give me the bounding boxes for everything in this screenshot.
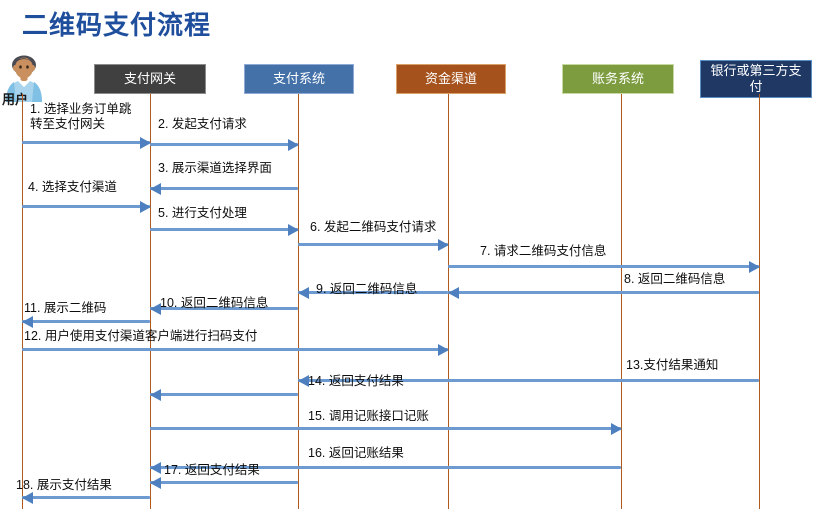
message-label-6: 6. 发起二维码支付请求 — [310, 220, 436, 235]
message-label-2: 2. 发起支付请求 — [158, 117, 247, 132]
message-label-8: 8. 返回二维码信息 — [624, 272, 725, 287]
participant-box-acct[interactable]: 账务系统 — [562, 64, 674, 94]
message-label-9: 9. 返回二维码信息 — [316, 282, 417, 297]
arrow-head-4 — [140, 201, 151, 213]
arrow-head-12 — [438, 344, 449, 356]
arrow-shaft-14 — [150, 393, 298, 396]
arrow-shaft-5 — [150, 228, 298, 231]
arrow-shaft-17 — [150, 481, 298, 484]
arrow-shaft-6 — [298, 243, 448, 246]
participant-box-gateway[interactable]: 支付网关 — [94, 64, 206, 94]
arrow-head-6 — [438, 239, 449, 251]
arrow-head-17 — [150, 477, 161, 489]
lifeline-user — [22, 94, 23, 509]
arrow-shaft-7 — [448, 265, 759, 268]
lifeline-bank — [759, 94, 760, 509]
participant-label-bank: 银行或第三方支付 — [705, 63, 807, 95]
page-title: 二维码支付流程 — [22, 8, 211, 42]
arrow-shaft-18 — [22, 496, 150, 499]
arrow-head-16 — [150, 462, 161, 474]
participant-label-paysys: 支付系统 — [273, 71, 325, 87]
participant-box-bank[interactable]: 银行或第三方支付 — [700, 60, 812, 98]
arrow-head-14 — [150, 389, 161, 401]
message-label-15: 15. 调用记账接口记账 — [308, 409, 429, 424]
message-label-12: 12. 用户使用支付渠道客户端进行扫码支付 — [24, 329, 257, 344]
participant-box-paysys[interactable]: 支付系统 — [244, 64, 354, 94]
arrow-head-15 — [611, 423, 622, 435]
arrow-head-9 — [298, 287, 309, 299]
lifeline-acct — [621, 94, 622, 509]
message-label-13: 13.支付结果通知 — [626, 358, 718, 373]
arrow-shaft-1 — [22, 141, 150, 144]
participant-label-acct: 账务系统 — [592, 71, 644, 87]
lifeline-fund — [448, 94, 449, 509]
arrow-head-2 — [288, 139, 299, 151]
arrow-head-3 — [150, 183, 161, 195]
message-label-11: 11. 展示二维码 — [24, 301, 106, 316]
message-label-18: 18. 展示支付结果 — [16, 478, 112, 493]
message-label-16: 16. 返回记账结果 — [308, 446, 404, 461]
participant-label-gateway: 支付网关 — [124, 71, 176, 87]
arrow-shaft-15 — [150, 427, 621, 430]
lifeline-gateway — [150, 94, 151, 509]
message-label-10: 10. 返回二维码信息 — [160, 296, 268, 311]
arrow-shaft-12 — [22, 348, 448, 351]
lifeline-paysys — [298, 94, 299, 509]
arrow-shaft-3 — [150, 187, 298, 190]
message-label-14: 14. 返回支付结果 — [308, 374, 404, 389]
message-label-17: 17. 返回支付结果 — [164, 463, 260, 478]
arrow-shaft-4 — [22, 205, 150, 208]
message-label-7: 7. 请求二维码支付信息 — [480, 244, 606, 259]
arrow-shaft-11 — [22, 320, 150, 323]
participant-label-fund: 资金渠道 — [425, 71, 477, 87]
message-label-5: 5. 进行支付处理 — [158, 206, 247, 221]
participant-box-fund[interactable]: 资金渠道 — [396, 64, 506, 94]
message-label-4: 4. 选择支付渠道 — [28, 180, 117, 195]
message-label-1: 1. 选择业务订单跳 转至支付网关 — [30, 102, 131, 132]
sequence-diagram-canvas: 二维码支付流程 用户 支付网关支付系统资金渠道账务系统银行或第三方支付1. 选 — [0, 0, 814, 509]
arrow-head-11 — [22, 316, 33, 328]
arrow-head-18 — [22, 492, 33, 504]
arrow-head-8 — [448, 287, 459, 299]
arrow-shaft-8 — [448, 291, 759, 294]
arrow-head-7 — [749, 261, 760, 273]
message-label-3: 3. 展示渠道选择界面 — [158, 161, 272, 176]
arrow-head-5 — [288, 224, 299, 236]
arrow-shaft-2 — [150, 143, 298, 146]
